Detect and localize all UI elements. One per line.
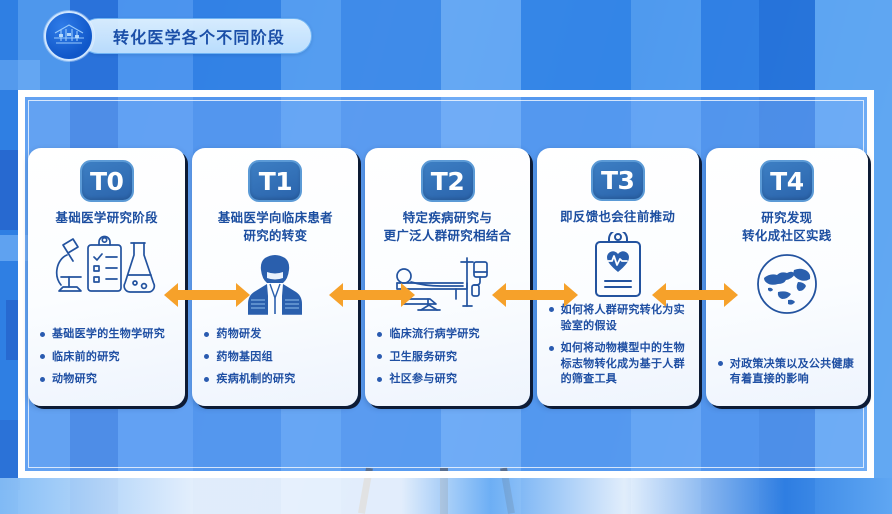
bullet-dot — [40, 377, 45, 382]
bg-light-sweep-2 — [0, 60, 40, 90]
microscope-clipboard-flask-icon — [51, 233, 163, 299]
card-title-t3: 即反馈也会往前推动 — [560, 208, 675, 226]
page-title: 转化医学各个不同阶段 — [113, 24, 285, 48]
patient-bed-iv-drip-icon — [388, 251, 508, 317]
list-item: 动物研究 — [40, 371, 175, 387]
bullet-label: 如何将人群研究转化为实验室的假设 — [561, 302, 689, 333]
bullet-dot — [549, 346, 554, 351]
bullet-label: 如何将动物模型中的生物标志物转化成为基于人群的筛查工具 — [561, 340, 689, 387]
card-t3[interactable]: T3 即反馈也会往前推动 如何将人群研究转化为实验室的假设 如何将动物模型中的生… — [537, 148, 699, 406]
bullet-dot — [377, 332, 382, 337]
bullet-dot — [377, 354, 382, 359]
bullet-label: 卫生服务研究 — [389, 349, 457, 365]
bullets-t0: 基础医学的生物学研究 临床前的研究 动物研究 — [38, 326, 175, 396]
list-item: 疾病机制的研究 — [204, 371, 348, 387]
bullet-label: 药物研发 — [216, 326, 261, 342]
doctor-person-icon — [240, 251, 310, 317]
clipboard-heartbeat-icon — [587, 232, 649, 298]
list-item: 卫生服务研究 — [377, 349, 519, 365]
bullet-label: 临床流行病学研究 — [389, 326, 479, 342]
list-item: 对政策决策以及公共健康有着直接的影响 — [718, 356, 858, 387]
stage-cards-row: T0 基础医学研究阶段 — [28, 148, 868, 406]
card-t0[interactable]: T0 基础医学研究阶段 — [28, 148, 185, 406]
badge-t1: T1 — [248, 160, 302, 202]
card-t4[interactable]: T4 研究发现 转化成社区实践 对政策决策以及公共健康有着直接的影响 — [706, 148, 868, 406]
bullet-label: 临床前的研究 — [52, 349, 120, 365]
list-item: 如何将动物模型中的生物标志物转化成为基于人群的筛查工具 — [549, 340, 689, 387]
bullet-label: 对政策决策以及公共健康有着直接的影响 — [730, 356, 858, 387]
bullets-t4: 对政策决策以及公共健康有着直接的影响 — [716, 356, 858, 396]
title-pill: 转化医学各个不同阶段 — [80, 18, 312, 54]
list-item: 临床流行病学研究 — [377, 326, 519, 342]
bullet-dot — [204, 377, 209, 382]
bullet-label: 基础医学的生物学研究 — [52, 326, 165, 342]
bullet-label: 药物基因组 — [216, 349, 273, 365]
bullet-dot — [377, 377, 382, 382]
list-item: 如何将人群研究转化为实验室的假设 — [549, 302, 689, 333]
bullet-dot — [204, 354, 209, 359]
bullets-t3: 如何将人群研究转化为实验室的假设 如何将动物模型中的生物标志物转化成为基于人群的… — [547, 302, 689, 396]
badge-t4: T4 — [760, 160, 814, 202]
bullet-label: 疾病机制的研究 — [216, 371, 295, 387]
bullets-t2: 临床流行病学研究 卫生服务研究 社区参与研究 — [375, 326, 519, 396]
card-t1[interactable]: T1 基础医学向临床患者 研究的转变 — [192, 148, 358, 406]
list-item: 临床前的研究 — [40, 349, 175, 365]
bullets-t1: 药物研发 药物基因组 疾病机制的研究 — [202, 326, 348, 396]
bullet-dot — [718, 361, 723, 366]
institute-emblem-icon — [44, 11, 94, 61]
badge-t3: T3 — [591, 160, 645, 201]
bullet-label: 动物研究 — [52, 371, 97, 387]
card-title-t0: 基础医学研究阶段 — [56, 209, 158, 227]
list-item: 基础医学的生物学研究 — [40, 326, 175, 342]
badge-t2: T2 — [421, 160, 475, 202]
list-item: 社区参与研究 — [377, 371, 519, 387]
card-title-t1: 基础医学向临床患者 研究的转变 — [218, 209, 333, 245]
list-item: 药物研发 — [204, 326, 348, 342]
header: 转化医学各个不同阶段 — [44, 14, 312, 58]
infographic-canvas: 转化医学各个不同阶段 T0 基础医学研究阶段 — [0, 0, 892, 514]
bullet-dot — [204, 332, 209, 337]
globe-icon — [754, 251, 820, 317]
card-title-t4: 研究发现 转化成社区实践 — [742, 209, 832, 245]
bullet-label: 社区参与研究 — [389, 371, 457, 387]
list-item: 药物基因组 — [204, 349, 348, 365]
card-title-t2: 特定疾病研究与 更广泛人群研究相结合 — [384, 209, 512, 245]
bullet-dot — [40, 354, 45, 359]
bg-floor-band — [0, 478, 892, 514]
badge-t0: T0 — [80, 160, 134, 202]
card-t2[interactable]: T2 特定疾病研究与 更广泛人群研究相结合 — [365, 148, 529, 406]
bullet-dot — [40, 332, 45, 337]
bullet-dot — [549, 307, 554, 312]
